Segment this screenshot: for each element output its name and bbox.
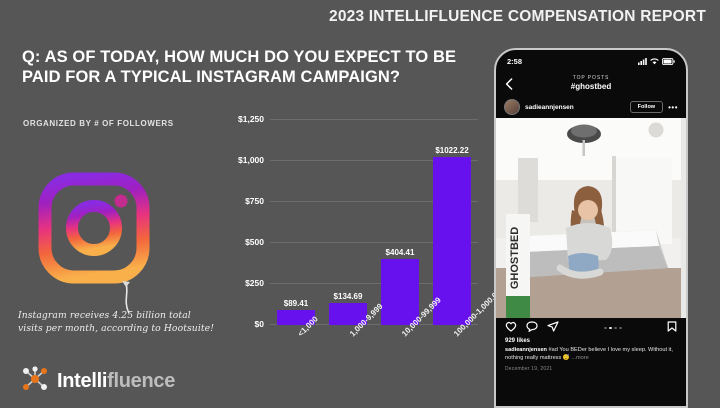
y-axis-tick-label: $250 [245, 278, 264, 288]
caption-text: sadieannjensen #ad You BEDer believe I l… [505, 347, 677, 362]
heart-icon[interactable] [505, 319, 517, 337]
y-axis-tick-label: $500 [245, 237, 264, 247]
brand-name-light: fluence [107, 370, 175, 392]
bar-value-label: $404.41 [386, 248, 415, 257]
bar-value-label: $89.41 [284, 299, 308, 308]
brand-wordmark: Intellifluence [57, 370, 175, 393]
question-subtitle: ORGANIZED BY # OF FOLLOWERS [23, 119, 174, 128]
chart-x-axis-labels: <1,0001,000-9,99910,000-99,999100,000-1,… [270, 330, 478, 390]
caption-more-link[interactable]: ...more [571, 355, 588, 361]
chart-bars: $89.41$134.69$404.41$1022.22 [270, 120, 478, 325]
post-header: sadieannjensen Follow ••• [496, 96, 686, 118]
bar-value-label: $1022.22 [435, 146, 468, 155]
back-chevron-icon[interactable] [505, 77, 513, 95]
x-axis-label: <1,000 [276, 330, 316, 390]
signal-icon [638, 58, 647, 65]
intellifluence-logo: Intellifluence [22, 366, 175, 397]
y-axis-tick-label: $0 [255, 319, 264, 329]
brand-name-bold: Intelli [57, 370, 107, 392]
report-title: 2023 INTELLIFLUENCE COMPENSATION REPORT [0, 8, 706, 26]
y-axis-tick-label: $1,000 [238, 155, 264, 165]
caption-username[interactable]: sadieannjensen [505, 347, 547, 353]
bar-chart: $0$250$500$750$1,000$1,250 $89.41$134.69… [222, 112, 484, 387]
x-axis-label: 100,000-1,000,000 [432, 330, 472, 390]
share-icon[interactable] [547, 319, 559, 337]
product-box-label: GHOSTBED [509, 227, 521, 289]
network-nodes-icon [22, 366, 48, 397]
wifi-icon [650, 58, 659, 65]
bar-group: $404.41 [380, 120, 420, 325]
phone-nav-header: TOP POSTS #ghostbed [496, 70, 686, 96]
bar [381, 259, 419, 325]
bar-group: $134.69 [328, 120, 368, 325]
post-username[interactable]: sadieannjensen [525, 104, 625, 111]
nav-subtitle: TOP POSTS [571, 75, 611, 82]
y-axis-tick-label: $750 [245, 196, 264, 206]
x-axis-label: 10,000-99,999 [380, 330, 420, 390]
likes-count: 929 likes [505, 338, 677, 344]
status-icons [638, 58, 675, 65]
follow-button[interactable]: Follow [630, 101, 663, 113]
instagram-stat-note: Instagram receives 4.25 billion total vi… [18, 309, 218, 335]
question-headline: Q: AS OF TODAY, HOW MUCH DO YOU EXPECT T… [22, 47, 462, 87]
bar-value-label: $134.69 [334, 292, 363, 301]
carousel-dots [604, 327, 622, 330]
post-caption-block: 929 likes sadieannjensen #ad You BEDer b… [496, 338, 686, 372]
post-actions [496, 318, 686, 338]
status-time: 2:58 [507, 57, 522, 66]
phone-mockup: 2:58 TOP POSTS #ghostbed sadieannjensen … [494, 48, 688, 408]
bookmark-icon[interactable] [667, 319, 677, 337]
battery-icon [662, 58, 675, 65]
x-axis-label: 1,000-9,999 [328, 330, 368, 390]
comment-icon[interactable] [526, 319, 538, 337]
post-photo[interactable]: GHOSTBED [496, 118, 686, 318]
bar-group: $1022.22 [432, 120, 472, 325]
nav-hashtag: #ghostbed [571, 82, 611, 92]
y-axis-tick-label: $1,250 [238, 114, 264, 124]
phone-notch [560, 52, 622, 65]
avatar[interactable] [504, 99, 520, 115]
post-date: December 19, 2021 [505, 366, 677, 372]
slide-canvas: 2023 INTELLIFLUENCE COMPENSATION REPORT … [0, 0, 720, 404]
chart-plot-area: $0$250$500$750$1,000$1,250 $89.41$134.69… [270, 120, 478, 325]
instagram-logo-icon [38, 172, 150, 284]
bar-group: $89.41 [276, 120, 316, 325]
post-more-menu-icon[interactable]: ••• [668, 103, 678, 112]
